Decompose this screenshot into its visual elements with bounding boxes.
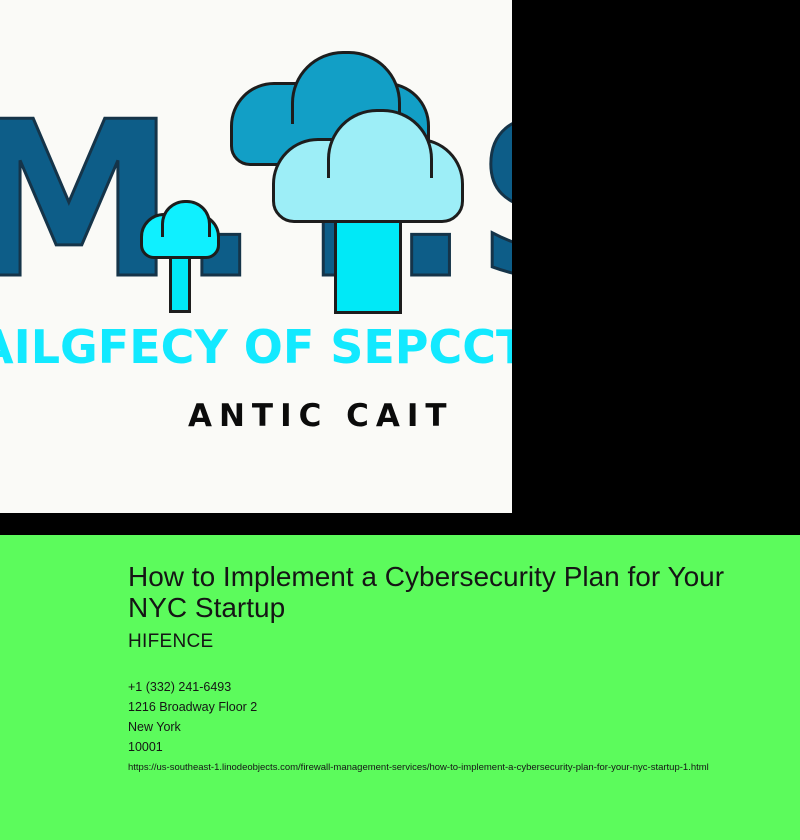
article-url-link[interactable]: https://us-southeast-1.linodeobjects.com… [128, 757, 796, 779]
article-card: How to Implement a Cybersecurity Plan fo… [0, 535, 800, 840]
tree-stem [169, 255, 191, 313]
contact-street: 1216 Broadway Floor 2 [128, 697, 748, 717]
logo-subtagline: ANTIC CAIT [188, 398, 512, 434]
contact-block: +1 (332) 241-6493 1216 Broadway Floor 2 … [128, 677, 748, 757]
contact-city: New York [128, 717, 748, 737]
brand-name: HIFENCE [128, 631, 214, 653]
cloud-tree-small-icon [140, 213, 220, 310]
contact-zip: 10001 [128, 737, 748, 757]
contact-phone[interactable]: +1 (332) 241-6493 [128, 677, 748, 697]
tree-stem [334, 218, 402, 314]
cloud-tree-pale-icon [272, 138, 464, 318]
page-root: M.Y.S AILGFECY OF SEPCCT ANTIC CAIT How … [0, 0, 800, 840]
hero-band: M.Y.S AILGFECY OF SEPCCT ANTIC CAIT [0, 0, 800, 535]
brand-logo-image[interactable]: M.Y.S AILGFECY OF SEPCCT ANTIC CAIT [0, 0, 512, 513]
cloud-cap [140, 213, 220, 259]
logo-tagline: AILGFECY OF SEPCCT [0, 322, 512, 372]
cloud-cap [272, 138, 464, 223]
page-title: How to Implement a Cybersecurity Plan fo… [128, 561, 748, 623]
